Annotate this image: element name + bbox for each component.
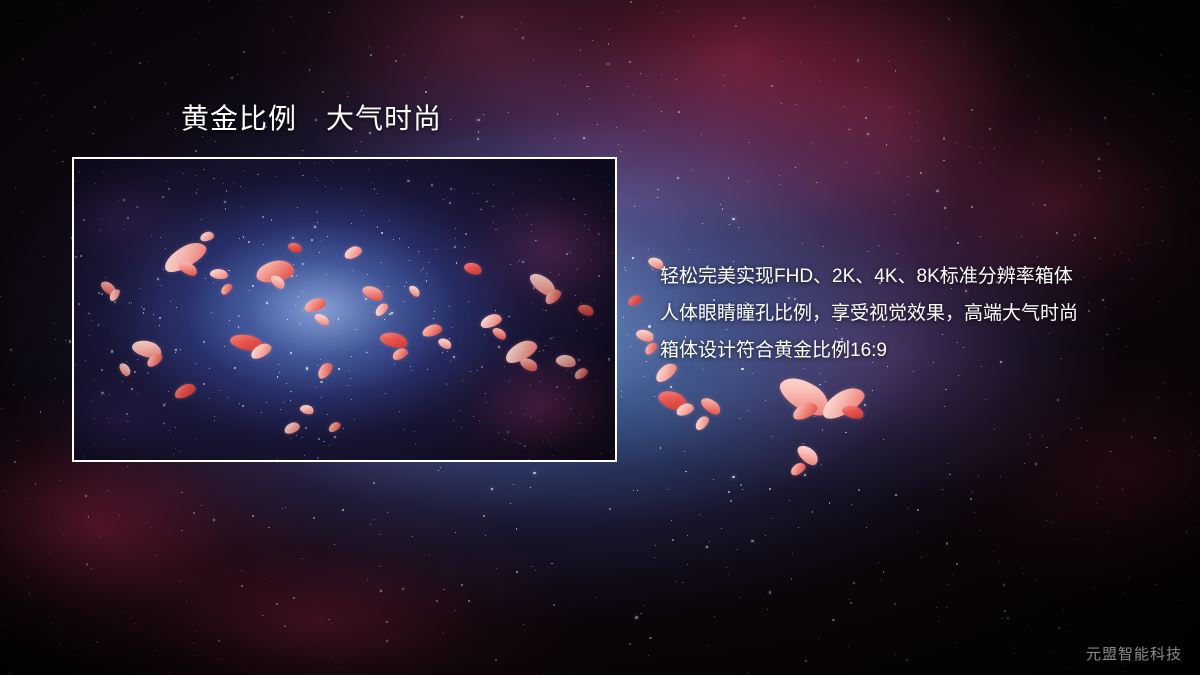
rose-petal xyxy=(693,414,711,432)
rose-petal xyxy=(656,386,690,414)
preview-panel xyxy=(72,157,617,462)
rose-petal xyxy=(818,382,869,423)
watermark: 元盟智能科技 xyxy=(1086,645,1182,665)
rose-petal xyxy=(790,400,819,423)
rose-petal xyxy=(789,461,808,478)
body-copy-block: 轻松完美实现FHD、2K、4K、8K标准分辨率箱体 人体眼睛瞳孔比例，享受视觉效… xyxy=(660,258,1180,369)
rose-petal xyxy=(699,394,724,417)
rose-petal xyxy=(775,369,835,422)
page-title: 黄金比例 大气时尚 xyxy=(181,102,442,136)
body-line-3: 箱体设计符合黄金比例16:9 xyxy=(660,332,1180,369)
rose-petal xyxy=(635,327,656,344)
body-line-2: 人体眼睛瞳孔比例，享受视觉效果，高端大气时尚 xyxy=(660,295,1180,332)
slide-canvas: 黄金比例 大气时尚 轻松完美实现FHD、2K、4K、8K标准分辨率箱体 人体眼睛… xyxy=(0,0,1200,675)
rose-petal xyxy=(841,403,866,421)
body-line-1: 轻松完美实现FHD、2K、4K、8K标准分辨率箱体 xyxy=(660,258,1180,295)
rose-petal xyxy=(675,401,696,417)
panel-nebula-image xyxy=(74,159,615,460)
rose-petal xyxy=(627,294,643,307)
rose-petal xyxy=(643,341,660,357)
rose-petal xyxy=(795,442,822,469)
